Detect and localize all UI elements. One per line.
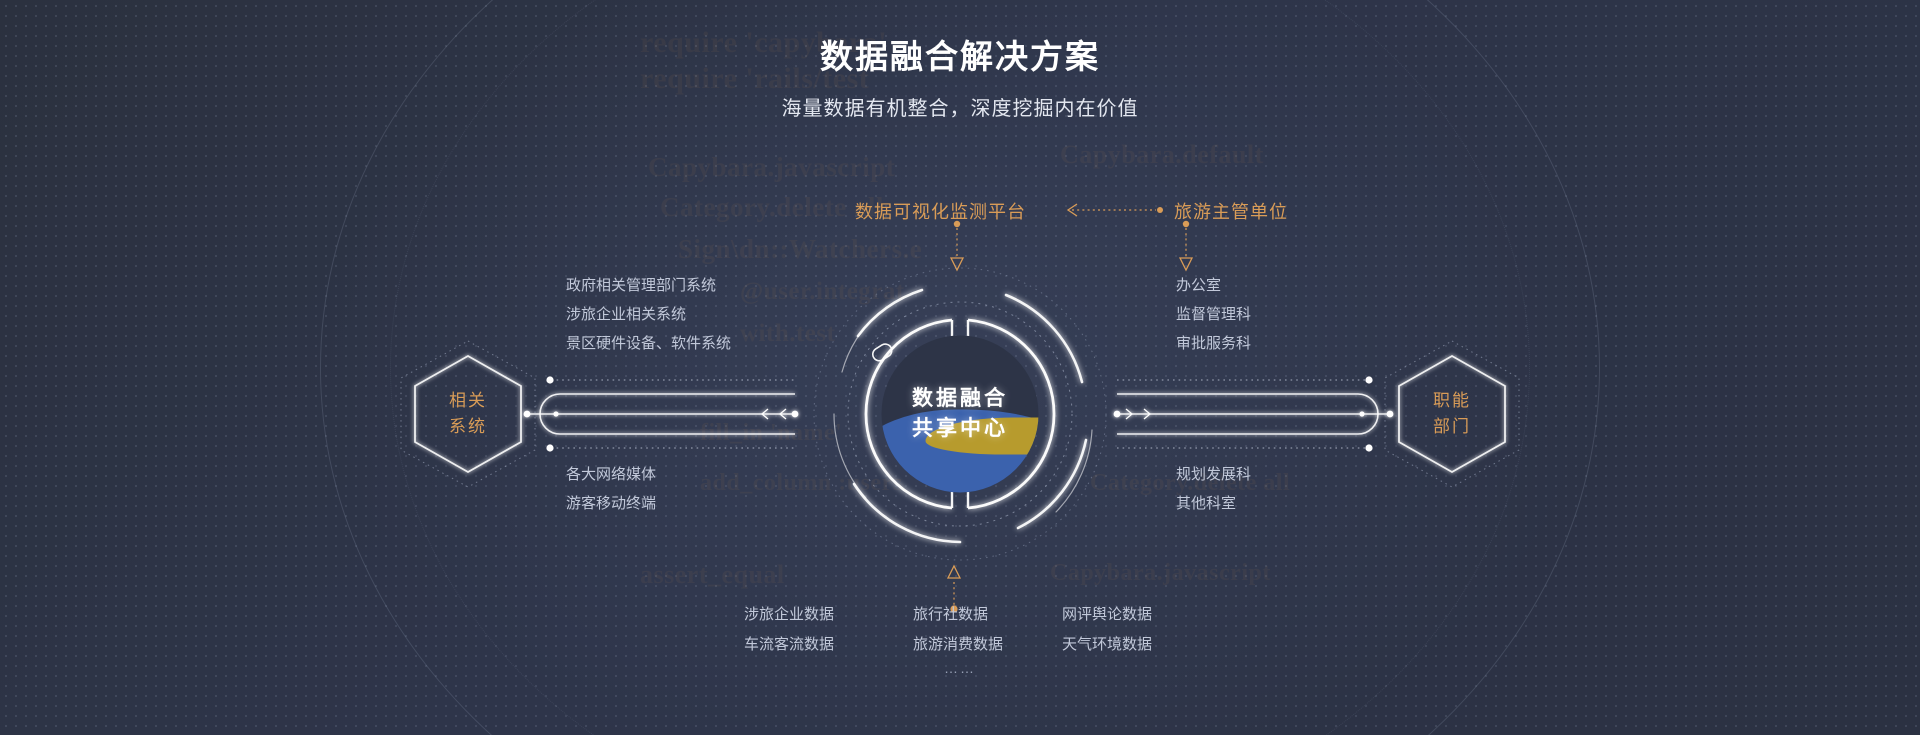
hexagon-related-systems[interactable]: 相关 系统 [415, 355, 521, 473]
hexagon-right-line1: 职能 [1399, 388, 1505, 414]
list-item: 政府相关管理部门系统 [566, 271, 731, 300]
list-item: 办公室 [1176, 271, 1251, 300]
solution-diagram-canvas: require 'capybara' require 'rails/test C… [0, 0, 1920, 735]
hexagon-left-label: 相关 系统 [415, 388, 521, 440]
right-departments-bottom-list: 规划发展科 其他科室 [1176, 460, 1251, 518]
bottom-data-sources-grid: 涉旅企业数据 旅行社数据 网评舆论数据 车流客流数据 旅游消费数据 天气环境数据 [744, 604, 1187, 656]
bottom-more-indicator: …… [944, 660, 976, 676]
authority-downlink-arrow [1180, 221, 1192, 270]
right-connector-group [1114, 394, 1394, 434]
diagram-header: 数据融合解决方案 海量数据有机整合，深度挖掘内在价值 [0, 34, 1920, 121]
hexagon-right-label: 职能 部门 [1399, 388, 1505, 440]
left-connector-group [524, 394, 799, 434]
list-item: 涉旅企业相关系统 [566, 300, 731, 329]
data-fusion-hub[interactable]: 数据融合 共享中心 [810, 264, 1110, 564]
hexagon-functional-departments[interactable]: 职能 部门 [1399, 355, 1505, 473]
data-cell: 旅行社数据 [913, 604, 1038, 626]
list-item: 各大网络媒体 [566, 460, 656, 489]
page-subtitle: 海量数据有机整合，深度挖掘内在价值 [0, 92, 1920, 121]
data-cell: 天气环境数据 [1062, 634, 1187, 656]
list-item: 监督管理科 [1176, 300, 1251, 329]
authority-label: 旅游主管单位 [1174, 198, 1288, 224]
data-cell: 网评舆论数据 [1062, 604, 1187, 626]
list-item: 审批服务科 [1176, 329, 1251, 358]
platform-label: 数据可视化监测平台 [855, 198, 1026, 224]
list-item: 规划发展科 [1176, 460, 1251, 489]
right-departments-top-list: 办公室 监督管理科 审批服务科 [1176, 271, 1251, 358]
hub-core-label: 数据融合 共享中心 [810, 384, 1110, 444]
node-visualization-platform[interactable]: 数据可视化监测平台 [855, 198, 1026, 224]
hexagon-left-line2: 系统 [415, 414, 521, 440]
data-cell: 旅游消费数据 [913, 634, 1038, 656]
ring-capsule-node [870, 342, 894, 364]
list-item: 景区硬件设备、软件系统 [566, 329, 731, 358]
data-cell: 涉旅企业数据 [744, 604, 889, 626]
data-cell: 车流客流数据 [744, 634, 889, 656]
platform-downlink-arrow [951, 221, 963, 270]
platform-authority-link [1068, 204, 1163, 216]
list-item: 游客移动终端 [566, 489, 656, 518]
hub-label-line2: 共享中心 [810, 414, 1110, 444]
hexagon-right-line2: 部门 [1399, 414, 1505, 440]
node-tourism-authority[interactable]: 旅游主管单位 [1174, 198, 1288, 224]
list-item: 其他科室 [1176, 489, 1251, 518]
left-sources-top-list: 政府相关管理部门系统 涉旅企业相关系统 景区硬件设备、软件系统 [566, 271, 731, 358]
left-sources-bottom-list: 各大网络媒体 游客移动终端 [566, 460, 656, 518]
hexagon-left-line1: 相关 [415, 388, 521, 414]
hub-label-line1: 数据融合 [810, 384, 1110, 414]
page-title: 数据融合解决方案 [0, 34, 1920, 80]
